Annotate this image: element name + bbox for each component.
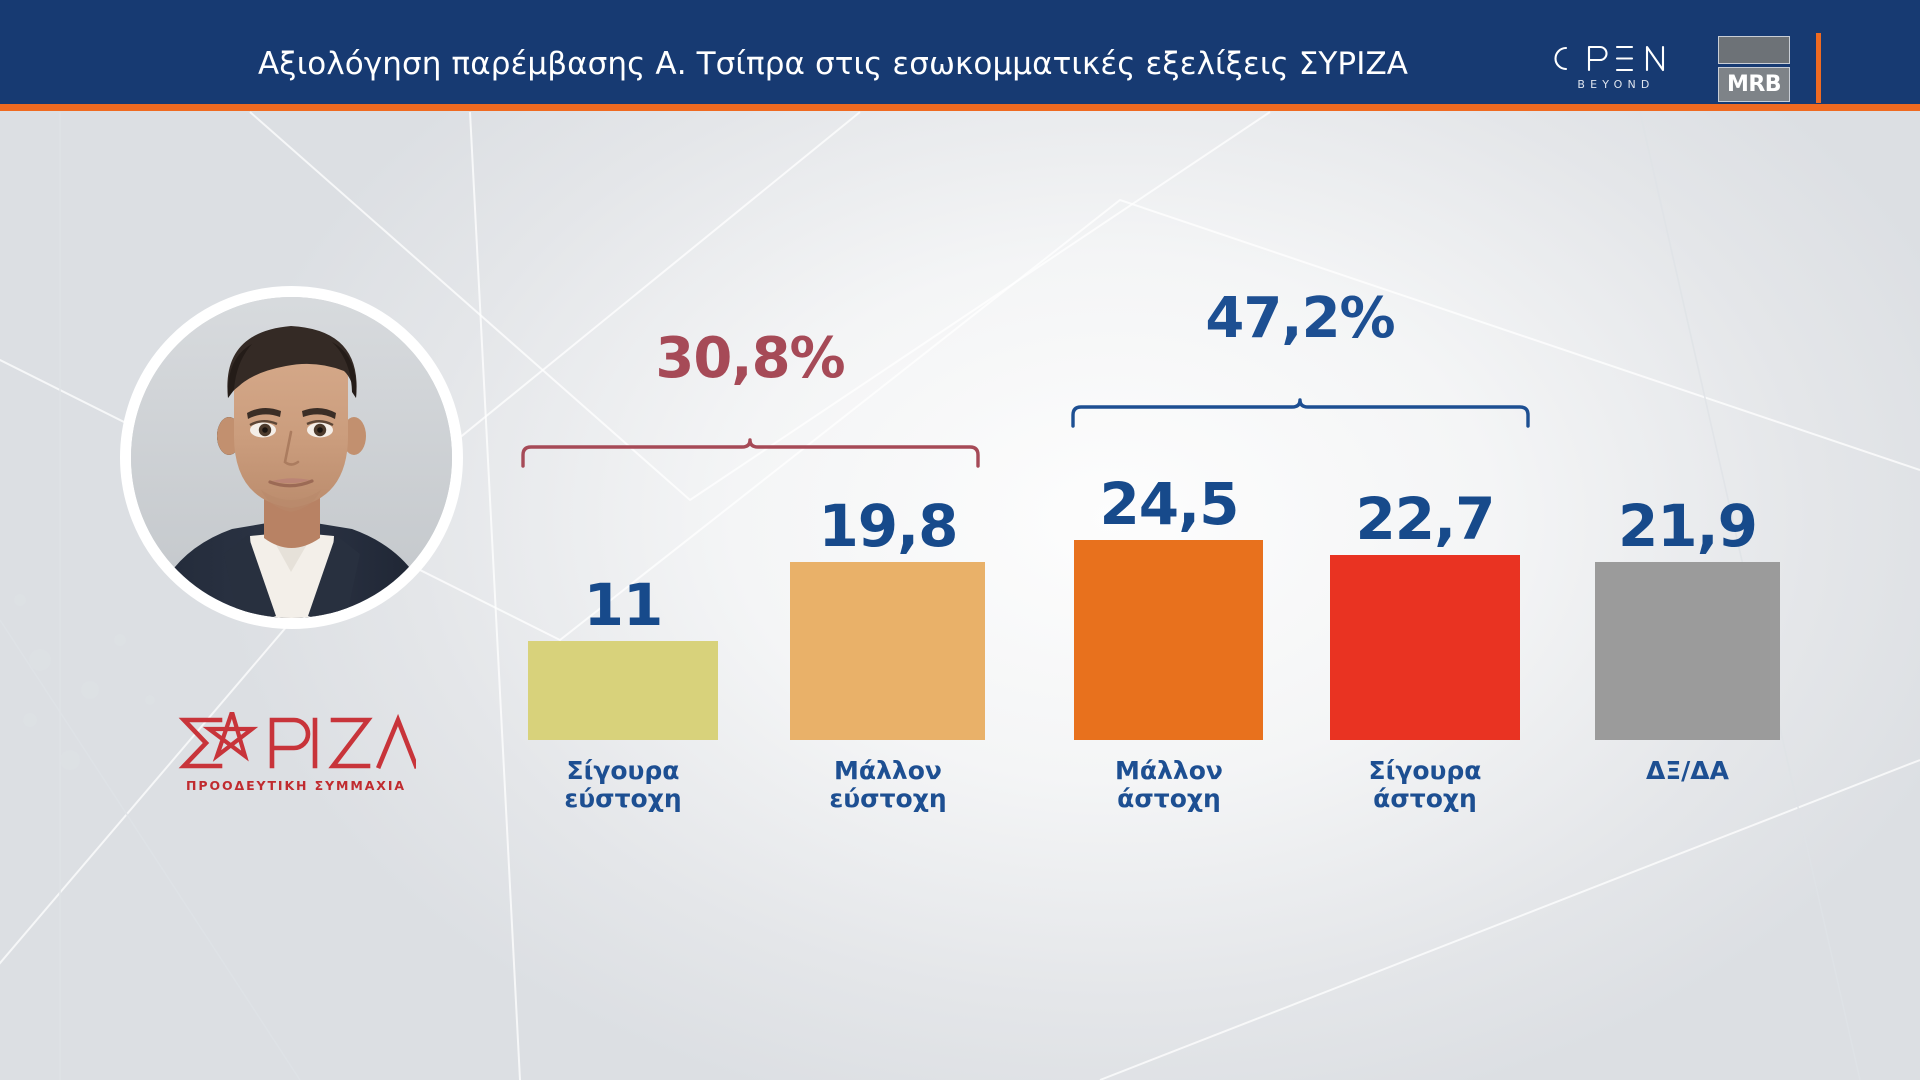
bar-value-0: 11 [523,576,723,634]
bar-label-3-line2: άστοχη [1325,785,1525,813]
mrb-logo-label: MRB [1727,72,1781,97]
bar-label-2-line1: Μάλλον [1069,757,1269,785]
bar-label-0-line1: Σίγουρα [523,757,723,785]
open-wordmark-icon [1546,42,1686,74]
bar-chart: 30,8% 47,2% 11 Σίγουρα εύστοχη 19,8 Μάλλ… [0,0,1920,1080]
header-bar: Αξιολόγηση παρέμβασης Α. Τσίπρα στις εσω… [0,0,1920,111]
group-percent-2: 47,2% [1050,291,1550,347]
bracket-group-2 [1073,400,1528,426]
page-title: Αξιολόγηση παρέμβασης Α. Τσίπρα στις εσω… [258,46,1408,82]
bar-segment-2 [1074,540,1263,740]
bar-label-4-line1: ΔΞ/ΔΑ [1590,757,1785,785]
bar-value-2: 24,5 [1069,475,1269,533]
mrb-logo: MRB [1718,36,1790,102]
bar-label-0: Σίγουρα εύστοχη [523,757,723,814]
bar-label-1-line2: εύστοχη [788,785,988,813]
bar-segment-4 [1595,562,1780,740]
bar-label-1-line1: Μάλλον [788,757,988,785]
bar-label-3-line1: Σίγουρα [1325,757,1525,785]
bar-label-0-line2: εύστοχη [523,785,723,813]
bar-value-1: 19,8 [788,497,988,555]
bar-segment-1 [790,562,985,740]
bar-label-2-line2: άστοχη [1069,785,1269,813]
bar-value-3: 22,7 [1325,490,1525,548]
bar-value-4: 21,9 [1590,497,1785,555]
mrb-logo-bottom-block: MRB [1718,67,1790,102]
open-beyond-logo: BEYOND [1546,42,1686,100]
mrb-logo-top-block [1718,36,1790,64]
bar-label-2: Μάλλον άστοχη [1069,757,1269,814]
bar-label-1: Μάλλον εύστοχη [788,757,988,814]
bar-segment-3 [1330,555,1520,740]
bar-label-4: ΔΞ/ΔΑ [1590,757,1785,785]
bracket-group-1 [523,440,978,466]
header-accent-line [0,104,1920,111]
header-orange-divider [1816,33,1821,103]
open-beyond-sublabel: BEYOND [1546,78,1686,91]
bar-segment-0 [528,641,718,740]
group-percent-1: 30,8% [500,331,1000,387]
bar-label-3: Σίγουρα άστοχη [1325,757,1525,814]
